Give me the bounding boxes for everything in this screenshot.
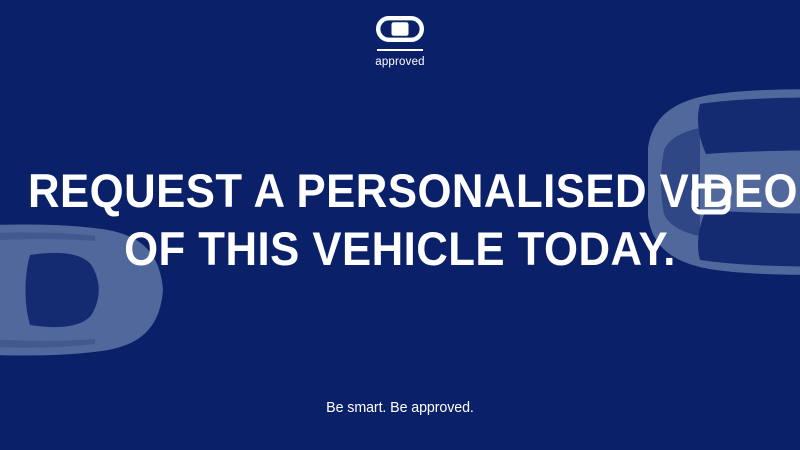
promo-banner: approved REQUEST A PERSONALISED VIDEO OF… [0, 0, 800, 450]
headline-line-1: REQUEST A PERSONALISED VIDEO [28, 162, 772, 220]
brand-divider-rule [377, 49, 423, 51]
brand-wordmark: approved [375, 56, 425, 69]
page-title: REQUEST A PERSONALISED VIDEO OF THIS VEH… [28, 162, 772, 278]
brand-logo: approved [0, 16, 800, 69]
headline-line-2: OF THIS VEHICLE TODAY. [28, 220, 772, 278]
car-top-view-icon [376, 16, 424, 42]
tagline: Be smart. Be approved. [20, 398, 780, 418]
